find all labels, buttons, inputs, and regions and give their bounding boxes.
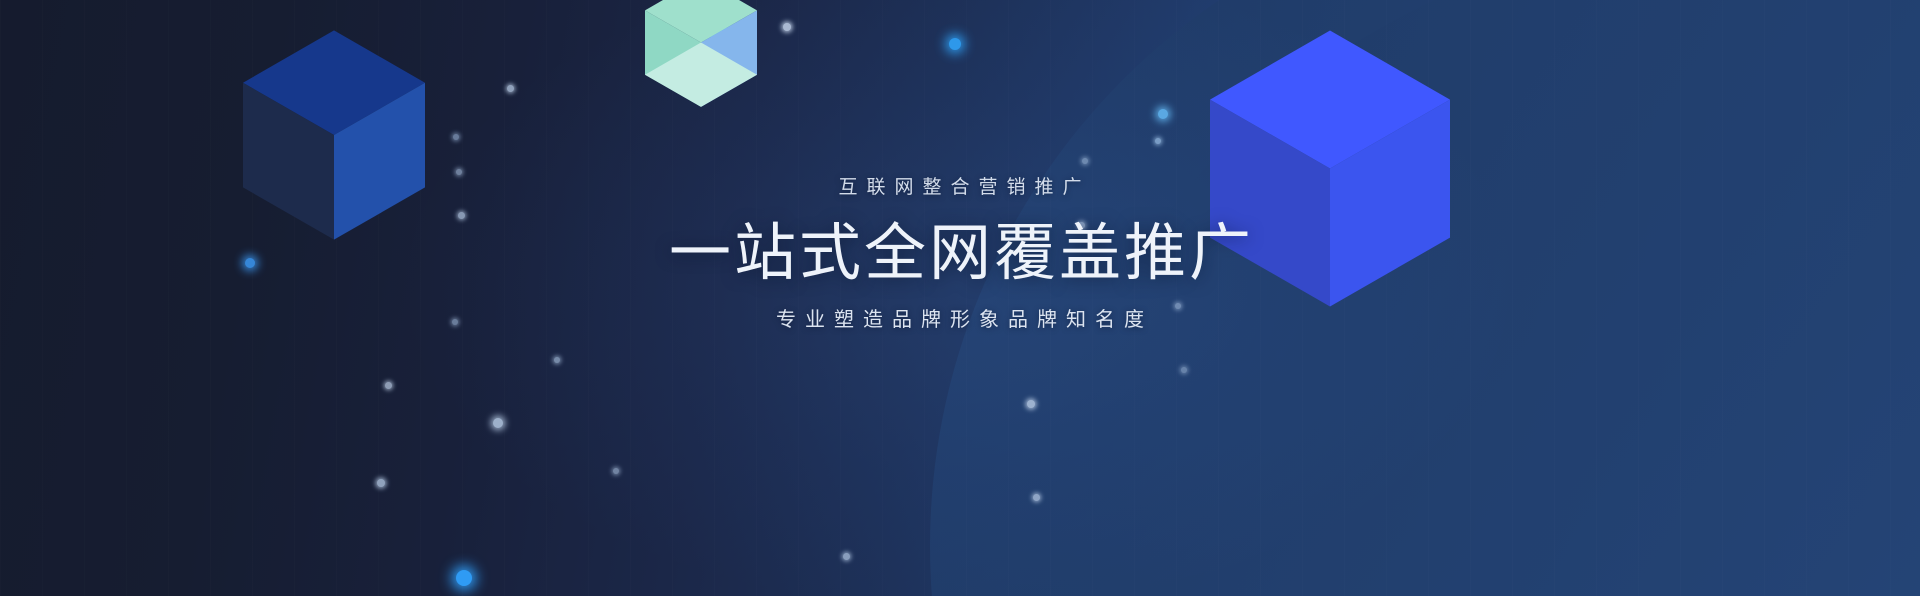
particle-dot: [456, 570, 472, 586]
hero-headline: 一站式全网覆盖推广: [0, 219, 1920, 288]
hero-banner: 互联网整合营销推广 一站式全网覆盖推广 专业塑造品牌形象品牌知名度: [0, 0, 1920, 596]
hero-eyebrow: 互联网整合营销推广: [0, 178, 1920, 197]
particle-dot: [453, 134, 459, 140]
particle-dot: [507, 85, 514, 92]
particle-dot: [377, 479, 385, 487]
particle-dot: [949, 38, 961, 50]
particle-dot: [385, 382, 392, 389]
mint-cube-icon: [645, 0, 757, 107]
particle-dot: [613, 468, 619, 474]
particle-dot: [554, 357, 560, 363]
particle-dot: [1181, 367, 1187, 373]
particle-dot: [1082, 158, 1088, 164]
particle-dot: [1033, 494, 1040, 501]
particle-dot: [1158, 109, 1168, 119]
particle-dot: [456, 169, 462, 175]
particle-dot: [493, 418, 503, 428]
particle-dot: [843, 553, 850, 560]
particle-dot: [1027, 400, 1035, 408]
hero-subline: 专业塑造品牌形象品牌知名度: [0, 310, 1920, 330]
hero-text-block: 互联网整合营销推广 一站式全网覆盖推广 专业塑造品牌形象品牌知名度: [0, 178, 1920, 330]
particle-dot: [1155, 138, 1161, 144]
particle-dot: [783, 23, 791, 31]
